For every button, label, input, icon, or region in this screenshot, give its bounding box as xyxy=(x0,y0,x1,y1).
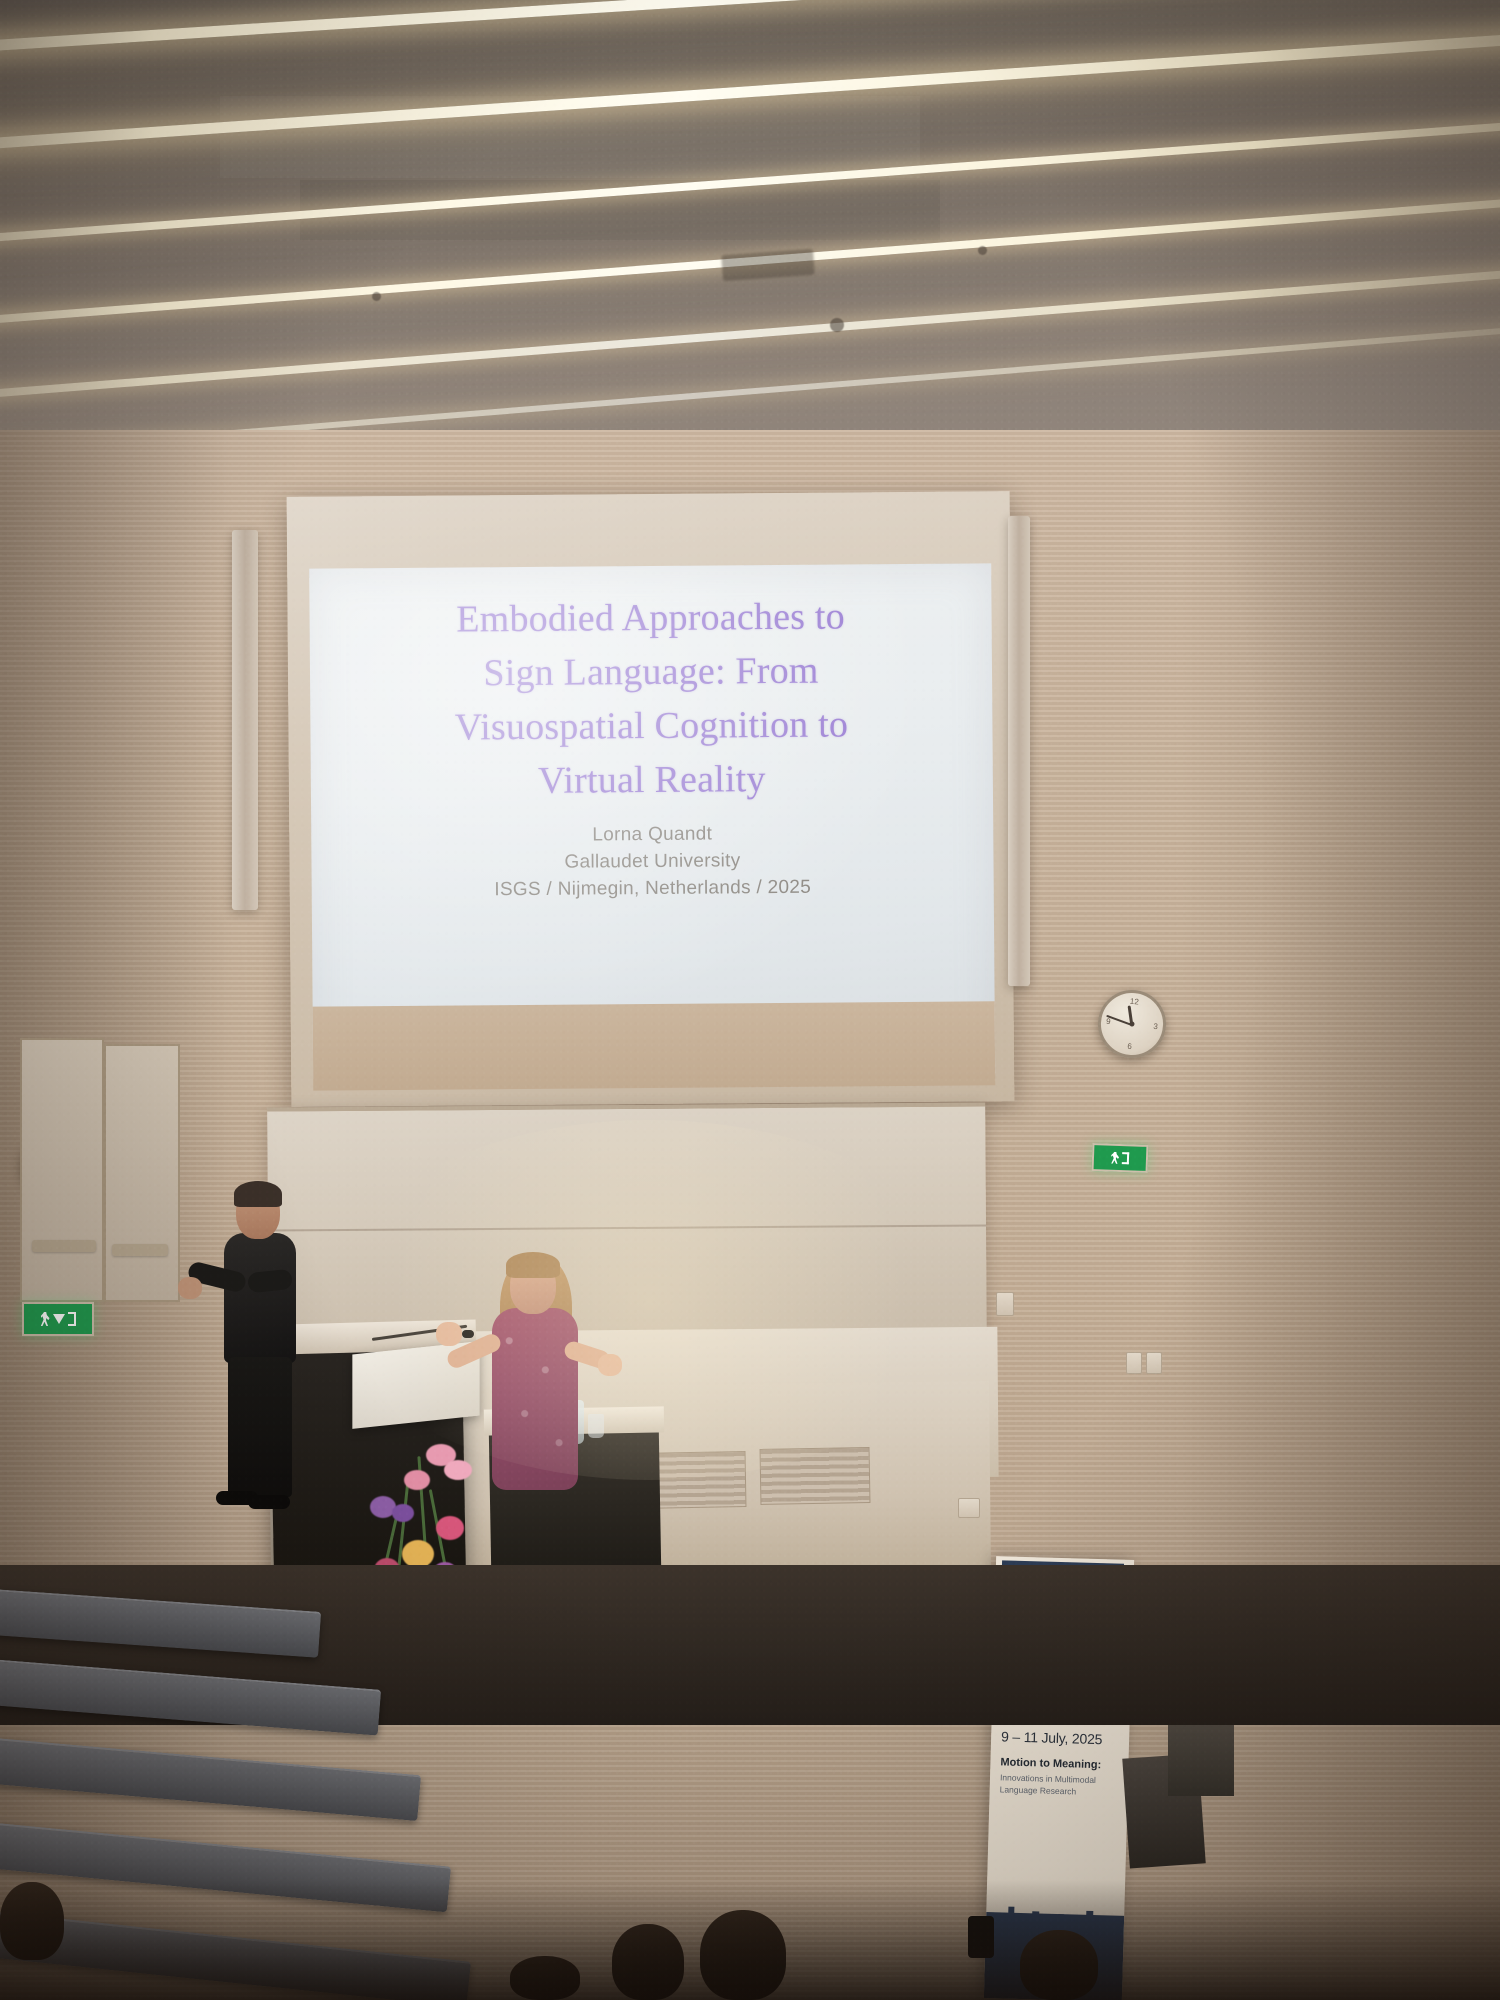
slide-title-line: Virtual Reality xyxy=(341,751,963,810)
exit-sign-left xyxy=(22,1302,94,1336)
running-person-icon xyxy=(41,1312,50,1326)
door-icon xyxy=(68,1312,76,1326)
ceiling-sprinkler xyxy=(978,246,987,255)
screen-lower-panel xyxy=(313,1001,996,1090)
lecture-hall-photo: 12 3 6 9 12 3 6 9 Embodied Approaches to… xyxy=(0,0,1500,2000)
speaker-raised-hand xyxy=(436,1322,462,1346)
projection-screen-frame: Embodied Approaches to Sign Language: Fr… xyxy=(287,491,1015,1107)
banner-theme-block: Motion to Meaning: Innovations in Multim… xyxy=(1000,1756,1121,1798)
event-line: ISGS / Nijmegin, Netherlands / 2025 xyxy=(342,873,964,905)
slide-title-line: Embodied Approaches to xyxy=(339,590,961,649)
wall-socket[interactable] xyxy=(1146,1352,1162,1374)
wall-rail-right xyxy=(1008,516,1030,986)
interpreter-shoe xyxy=(248,1495,290,1509)
flower-petal xyxy=(392,1504,414,1522)
cabinet-vent xyxy=(760,1447,871,1505)
wall-switch[interactable] xyxy=(1126,1352,1142,1374)
banner-theme-subtitle: Innovations in Multimodal Language Resea… xyxy=(1000,1773,1121,1799)
sign-language-interpreter xyxy=(196,1185,306,1505)
speaker-hair-top xyxy=(506,1252,560,1278)
whiteboard xyxy=(267,1102,987,1347)
keynote-speaker xyxy=(452,1250,612,1550)
interpreter-left-hand xyxy=(178,1277,202,1299)
interpreter-hair xyxy=(234,1181,282,1207)
running-person-icon xyxy=(1111,1152,1119,1164)
wall-socket[interactable] xyxy=(996,1292,1014,1316)
interpreter-legs xyxy=(228,1357,292,1497)
speaker-dress xyxy=(492,1308,578,1490)
flower-petal xyxy=(402,1540,434,1568)
seat-row[interactable] xyxy=(0,1658,381,1735)
wall-rail-left xyxy=(232,530,258,910)
slide-metadata: Lorna Quandt Gallaudet University ISGS /… xyxy=(341,819,964,905)
ceiling-light-strip xyxy=(0,0,1500,53)
door-icon xyxy=(1122,1152,1129,1164)
exit-door-left-b[interactable] xyxy=(104,1044,180,1302)
ceiling-speaker xyxy=(830,318,844,332)
ceiling-light-strip xyxy=(0,265,1500,400)
speaker-right-hand xyxy=(598,1354,622,1376)
ceiling-sprinkler xyxy=(372,292,381,301)
banner-theme-title: Motion to Meaning: xyxy=(1000,1756,1120,1773)
ceiling-vent xyxy=(721,249,815,281)
slide-title-line: Visuospatial Cognition to xyxy=(340,697,962,756)
slide-title-line: Sign Language: From xyxy=(340,644,962,703)
exit-door-left-a[interactable] xyxy=(20,1038,104,1302)
interpreter-torso xyxy=(224,1233,296,1363)
banner-dates: 9 – 11 July, 2025 xyxy=(1001,1728,1123,1747)
wall-socket[interactable] xyxy=(958,1498,980,1518)
presentation-slide: Embodied Approaches to Sign Language: Fr… xyxy=(309,563,994,1000)
lily-petal xyxy=(404,1470,430,1490)
slide-title: Embodied Approaches to Sign Language: Fr… xyxy=(339,590,963,811)
exit-sign-right xyxy=(1092,1143,1149,1173)
down-arrow-icon xyxy=(53,1314,65,1324)
seat-row[interactable] xyxy=(0,1737,421,1821)
